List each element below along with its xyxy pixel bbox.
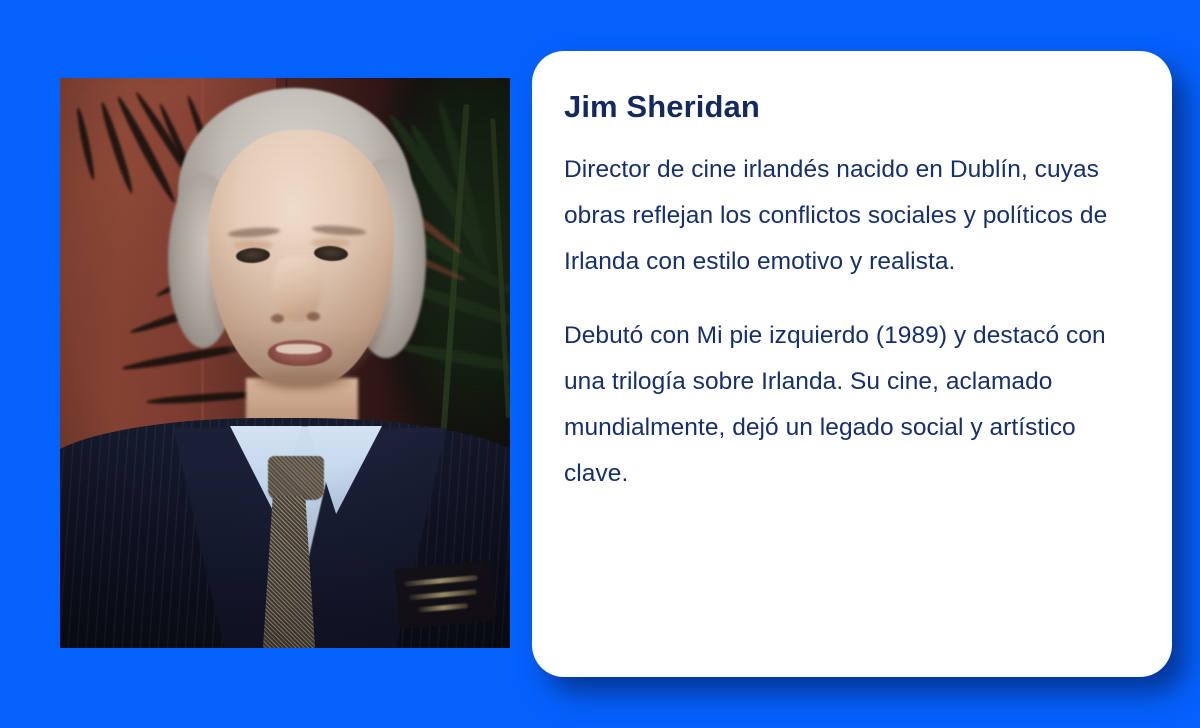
info-card: Jim Sheridan Director de cine irlandés n… xyxy=(532,51,1172,677)
page-root: Jim Sheridan Director de cine irlandés n… xyxy=(0,0,1200,728)
portrait-photo xyxy=(60,78,510,648)
description-paragraph-1: Director de cine irlandés nacido en Dubl… xyxy=(564,147,1128,285)
page-title: Jim Sheridan xyxy=(564,89,1128,125)
description-paragraph-2: Debutó con Mi pie izquierdo (1989) y des… xyxy=(564,313,1128,497)
photo-content xyxy=(60,78,510,648)
photo-vignette xyxy=(60,78,510,648)
